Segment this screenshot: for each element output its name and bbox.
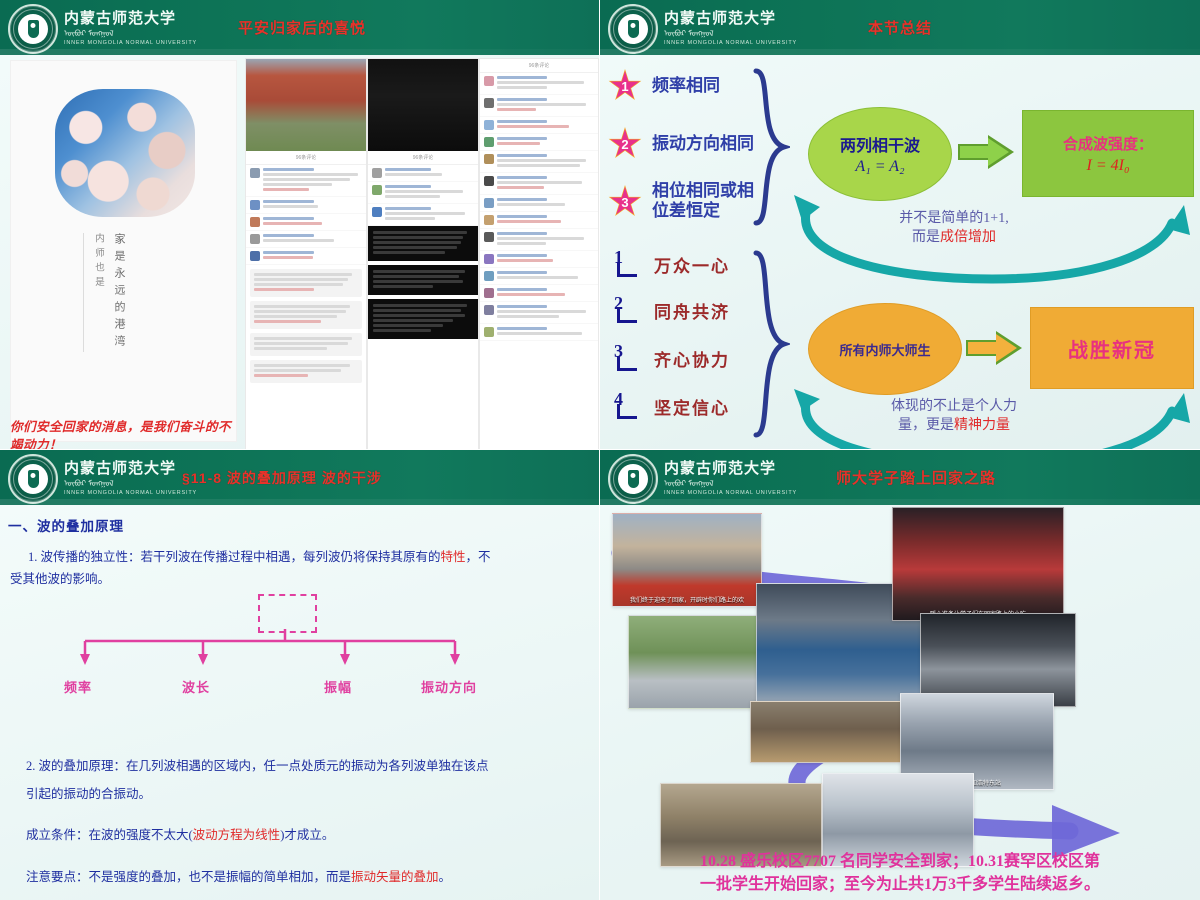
university-name-en: INNER MONGOLIA NORMAL UNIVERSITY	[64, 491, 197, 497]
slide-deck: 内蒙古师范大学 ᠦᠪᠦᠷ ᠮᠣᠩᠭᠣᠯ INNER MONGOLIA NORMA…	[0, 0, 1200, 900]
wechat-screenshot-collage: 96条评论 96条评论	[245, 58, 597, 448]
star-badge-1-icon: 1	[608, 69, 642, 103]
photo-caption-1: 我们终于迎来了回家，开辟时你们路上的欢	[613, 595, 761, 604]
condition-1-text: 频率相同	[652, 76, 720, 96]
note-2-line1: 体现的不止是个人力	[824, 398, 1084, 417]
result-box-intensity: 合成波强度： I = 4I₀	[1022, 110, 1194, 197]
idiom-number-1: 1	[614, 251, 640, 277]
slide-4-title: 师大学子踏上回家之路	[836, 450, 996, 505]
branch-label-vibration-direction: 振动方向	[421, 677, 477, 696]
night-photo	[368, 59, 478, 151]
orange-arrow-icon	[966, 331, 1024, 365]
poster-card: 家是永远的港湾 内师也是	[10, 60, 237, 442]
idiom-number-3: 3	[614, 345, 640, 371]
source-ellipse-all-staff: 所有内师大师生	[808, 303, 962, 395]
result-line2: I = 4I₀	[1086, 157, 1129, 175]
condition-2-text: 振动方向相同	[652, 134, 754, 154]
branch-label-frequency: 频率	[64, 677, 92, 696]
cond-post: )才成立。	[280, 828, 334, 842]
tree-root-box	[258, 594, 317, 633]
item1-highlight: 特性	[441, 550, 466, 564]
university-logo: 内蒙古师范大学 ᠦᠪᠦᠷ ᠮᠣᠩᠭᠣᠯ INNER MONGOLIA NORMA…	[608, 454, 797, 504]
branch-label-wavelength: 波长	[182, 677, 210, 696]
note-pre: 注意要点：不是强度的叠加，也不是振幅的简单相加，而是	[26, 870, 351, 884]
star-badge-2-icon: 2	[608, 127, 642, 161]
university-crest-icon	[8, 454, 58, 504]
chat-column-2: 96条评论	[367, 58, 479, 450]
star-badge-1-number: 1	[610, 71, 640, 101]
university-name-mn: ᠦᠪᠦᠷ ᠮᠣᠩᠭᠣᠯ	[64, 30, 197, 38]
idiom-number-4-text: 4	[614, 389, 623, 410]
photo-handing-snacks: 暖心准备让学子们在回家路上的小吃	[892, 507, 1064, 621]
slide-1: 内蒙古师范大学 ᠦᠪᠦᠷ ᠮᠣᠩᠭᠣᠯ INNER MONGOLIA NORMA…	[0, 0, 600, 450]
paragraph-superposition: 2. 波的叠加原理：在几列波相遇的区域内，任一点处质元的振动为各列波单独在该点 …	[26, 753, 596, 808]
university-name-cn: 内蒙古师范大学	[664, 462, 797, 477]
caption-line-1: 10.28 盛乐校区7707 名同学安全到家；10.31赛罕区校区第	[606, 850, 1194, 873]
slide-3-body: 一、波的叠加原理 1. 波传播的独立性：若干列波在传播过程中相遇，每列波仍将保持…	[0, 505, 599, 900]
green-arrow-icon	[958, 135, 1016, 169]
paragraph-note: 注意要点：不是强度的叠加，也不是振幅的简单相加，而是振动矢量的叠加。	[26, 867, 596, 889]
slide-1-title: 平安归家后的喜悦	[238, 0, 366, 55]
branch-label-amplitude: 振幅	[324, 677, 352, 696]
idiom-number-1-text: 1	[614, 247, 623, 268]
item1-line2: 受其他波的影响。	[10, 569, 588, 591]
idiom-number-2-text: 2	[614, 293, 623, 314]
campus-photo	[246, 59, 366, 151]
slide-2-title: 本节总结	[868, 0, 932, 55]
slide-1-body: 家是永远的港湾 内师也是 你们安全回家的消息，是我们奋斗的不竭动力！ 96条评论	[0, 55, 599, 450]
star-badge-3-number: 3	[610, 187, 640, 217]
cond-pre: 成立条件：在波的强度不太大(	[26, 828, 193, 842]
brace-idioms	[750, 249, 790, 439]
slide-1-header: 内蒙古师范大学 ᠦᠪᠦᠷ ᠮᠣᠩᠭᠣᠯ INNER MONGOLIA NORMA…	[0, 0, 599, 55]
note-2-line2-plain: 量，更是	[898, 418, 954, 433]
slide-4-body: 我们终于迎来了回家，开辟时你们路上的欢 暖心准备让学子们在回家路上的小吃 接送学…	[600, 505, 1200, 900]
note-2-line2-highlight: 精神力量	[954, 418, 1010, 433]
slide-2-body: 1 频率相同 2 振动方向相同 3 相位相同或相 位差恒定 两列相干波 A₁ =…	[600, 55, 1200, 450]
slide-3: 内蒙古师范大学 ᠦᠪᠦᠷ ᠮᠣᠩᠭᠣᠯ INNER MONGOLIA NORMA…	[0, 450, 600, 900]
paragraph-independence: 1. 波传播的独立性：若干列波在传播过程中相遇，每列波仍将保持其原有的特性，不 …	[28, 547, 588, 591]
slide-3-title: §11-8 波的叠加原理 波的干涉	[182, 450, 382, 505]
university-name-cn: 内蒙古师范大学	[664, 12, 797, 27]
idiom-row-2: 2 同舟共济	[614, 297, 730, 323]
slide-4-header: 内蒙古师范大学 ᠦᠪᠦᠷ ᠮᠣᠩᠭᠣᠯ INNER MONGOLIA NORMA…	[600, 450, 1200, 505]
university-name-mn: ᠦᠪᠦᠷ ᠮᠣᠩᠭᠣᠯ	[664, 30, 797, 38]
idiom-4-text: 坚定信心	[654, 394, 730, 419]
photo-supplies	[750, 701, 902, 763]
source-ellipse-coherent-waves: 两列相干波 A₁ = A₂	[808, 107, 952, 201]
chat-column-1-subtitle: 96条评论	[246, 151, 366, 165]
idiom-2-text: 同舟共济	[654, 298, 730, 323]
university-logo: 内蒙古师范大学 ᠦᠪᠦᠷ ᠮᠣᠩᠭᠣᠯ INNER MONGOLIA NORMA…	[608, 4, 797, 54]
university-name-cn: 内蒙古师范大学	[64, 462, 197, 477]
note-post: 。	[439, 870, 452, 884]
idiom-number-3-text: 3	[614, 341, 623, 362]
source-ellipse-line1: 两列相干波	[840, 132, 920, 156]
idiom-row-1: 1 万众一心	[614, 251, 730, 277]
result-box-defeat-covid: 战胜新冠	[1030, 307, 1194, 389]
slide-4: 内蒙古师范大学 ᠦᠪᠦᠷ ᠮᠣᠩᠭᠣᠯ INNER MONGOLIA NORMA…	[600, 450, 1200, 900]
note-1-line2-highlight: 成倍增加	[940, 230, 996, 245]
section-heading: 一、波的叠加原理	[8, 515, 124, 535]
slide-2-header: 内蒙古师范大学 ᠦᠪᠦᠷ ᠮᠣᠩᠭᠣᠯ INNER MONGOLIA NORMA…	[600, 0, 1200, 55]
paragraph-condition: 成立条件：在波的强度不太大(波动方程为线性)才成立。	[26, 825, 596, 847]
slide-2: 内蒙古师范大学 ᠦᠪᠦᠷ ᠮᠣᠩᠭᠣᠯ INNER MONGOLIA NORMA…	[600, 0, 1200, 450]
idiom-number-4: 4	[614, 393, 640, 419]
caption-line-2: 一批学生开始回家；至今为止共1万3千多学生陆续返乡。	[606, 873, 1194, 896]
item1-pre: 1. 波传播的独立性：若干列波在传播过程中相遇，每列波仍将保持其原有的	[28, 550, 441, 564]
blossom-photo	[55, 89, 195, 217]
university-name-en: INNER MONGOLIA NORMAL UNIVERSITY	[64, 41, 197, 47]
poster-vertical-text: 家是永远的港湾 内师也是	[83, 233, 127, 352]
idiom-row-4: 4 坚定信心	[614, 393, 730, 419]
university-crest-icon	[608, 454, 658, 504]
red-handwriting-note: 你们安全回家的消息，是我们奋斗的不竭动力！	[10, 418, 238, 450]
university-name-en: INNER MONGOLIA NORMAL UNIVERSITY	[664, 41, 797, 47]
condition-row-3: 3 相位相同或相 位差恒定	[608, 181, 754, 222]
university-name-cn: 内蒙古师范大学	[64, 12, 197, 27]
star-badge-3-icon: 3	[608, 185, 642, 219]
condition-row-2: 2 振动方向相同	[608, 127, 754, 161]
poster-vertical-small: 内师也是	[83, 233, 105, 352]
chat-column-2-subtitle: 96条评论	[368, 151, 478, 165]
university-name-mn: ᠦᠪᠦᠷ ᠮᠣᠩᠭᠣᠯ	[664, 480, 797, 488]
university-crest-icon	[608, 4, 658, 54]
note-2: 体现的不止是个人力 量，更是精神力量	[824, 398, 1084, 436]
chat-column-1: 96条评论	[245, 58, 367, 450]
chat-column-3-subtitle: 96条评论	[480, 59, 598, 73]
photo-queue-redcarpet: 我们终于迎来了回家，开辟时你们路上的欢	[612, 513, 762, 607]
slide-4-caption: 10.28 盛乐校区7707 名同学安全到家；10.31赛罕区校区第 一批学生开…	[606, 850, 1194, 896]
cond-highlight: 波动方程为线性	[193, 828, 281, 842]
chat-column-3: 96条评论	[479, 58, 599, 450]
university-name-en: INNER MONGOLIA NORMAL UNIVERSITY	[664, 491, 797, 497]
result-2-text: 战胜新冠	[1068, 334, 1156, 363]
source-ellipse-line2: A₁ = A₂	[855, 158, 904, 176]
condition-3-text: 相位相同或相 位差恒定	[652, 181, 754, 222]
idiom-3-text: 齐心协力	[654, 346, 730, 371]
idiom-row-3: 3 齐心协力	[614, 345, 730, 371]
item2-line2: 引起的振动的合振动。	[26, 781, 596, 809]
item2-line1: 2. 波的叠加原理：在几列波相遇的区域内，任一点处质元的振动为各列波单独在该点	[26, 753, 596, 781]
slide-3-header: 内蒙古师范大学 ᠦᠪᠦᠷ ᠮᠣᠩᠭᠣᠯ INNER MONGOLIA NORMA…	[0, 450, 599, 505]
brace-conditions	[750, 67, 790, 227]
university-logo: 内蒙古师范大学 ᠦᠪᠦᠷ ᠮᠣᠩᠭᠣᠯ INNER MONGOLIA NORMA…	[8, 454, 197, 504]
source-ellipse-2-text: 所有内师大师生	[839, 340, 930, 359]
idiom-number-2: 2	[614, 297, 640, 323]
university-name-mn: ᠦᠪᠦᠷ ᠮᠣᠩᠭᠣᠯ	[64, 480, 197, 488]
idiom-1-text: 万众一心	[654, 252, 730, 277]
star-badge-2-number: 2	[610, 129, 640, 159]
item1-post: ，不	[466, 550, 491, 564]
poster-vertical-main: 家是永远的港湾	[111, 233, 127, 352]
note-1-line2-plain: 而是	[912, 230, 940, 245]
university-crest-icon	[8, 4, 58, 54]
note-1: 并不是简单的1+1, 而是成倍增加	[824, 210, 1084, 248]
result-line1: 合成波强度：	[1063, 133, 1153, 154]
note-1-line1: 并不是简单的1+1,	[824, 210, 1084, 229]
university-logo: 内蒙古师范大学 ᠦᠪᠦᠷ ᠮᠣᠩᠭᠣᠯ INNER MONGOLIA NORMA…	[8, 4, 197, 54]
condition-row-1: 1 频率相同	[608, 69, 720, 103]
note-highlight: 振动矢量的叠加	[351, 870, 439, 884]
